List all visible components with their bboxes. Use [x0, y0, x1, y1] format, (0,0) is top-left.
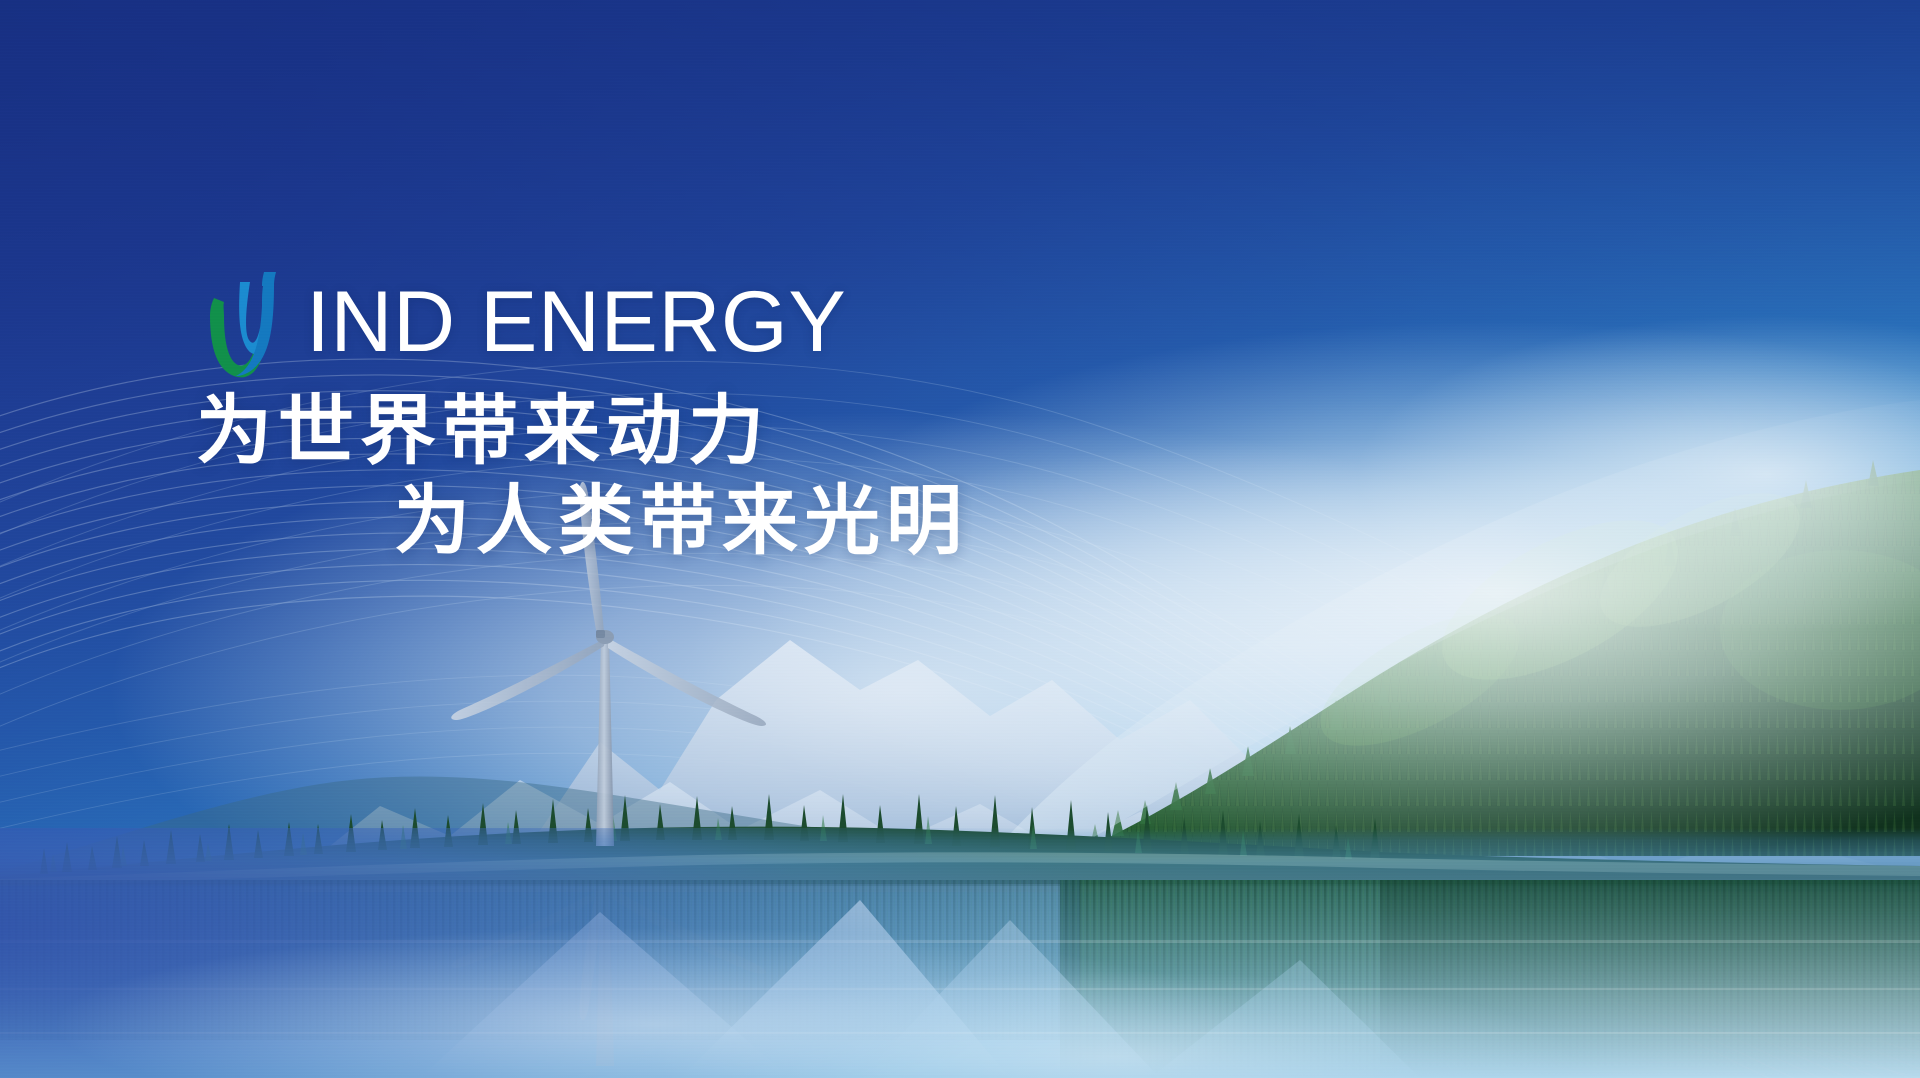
hero-banner: IND ENERGY 为世界带来动力 为人类带来光明	[0, 0, 1920, 1078]
photo-grain-overlay	[0, 0, 1920, 1078]
